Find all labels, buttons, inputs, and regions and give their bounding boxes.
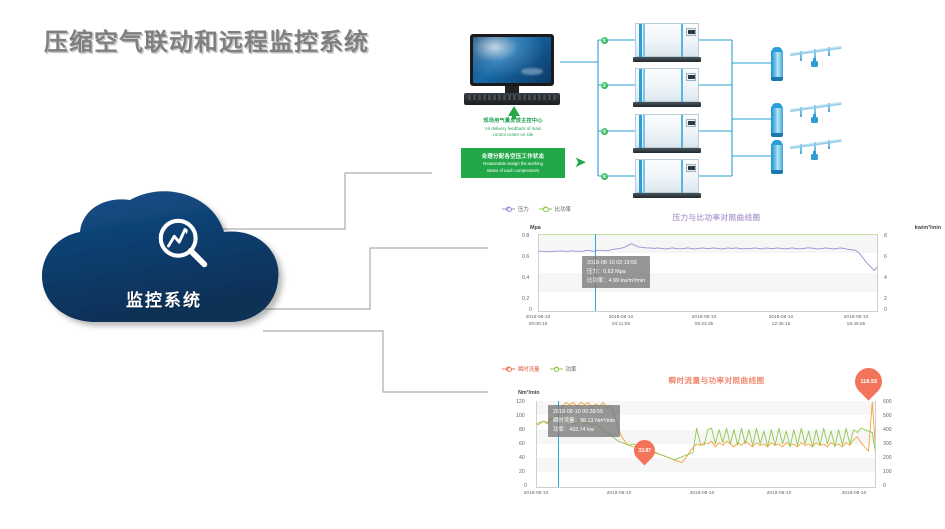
right-arrow-icon: ➤ bbox=[574, 156, 588, 169]
chart1-xtick-4-date: 2018-08-10 bbox=[826, 315, 886, 322]
chart2-ytick-5: 20 bbox=[519, 469, 525, 475]
chart1-xtick-3-time: 12:35:15 bbox=[751, 322, 811, 329]
chart2-xtick-4-date: 2018-08-10 bbox=[824, 491, 884, 498]
monitoring-cloud[interactable]: 监控系统 bbox=[38, 188, 290, 343]
chart1-ytick-1: 0.6 bbox=[522, 254, 529, 260]
chart1-xtick-0-time: 00:00:15 bbox=[508, 322, 568, 329]
chart1-title: 压力与比功率对照曲线图 bbox=[488, 212, 945, 223]
chart1-xtick-2-date: 2018-08-10 bbox=[674, 315, 734, 322]
chart2-xtick-1-date: 2018-08-10 bbox=[589, 491, 649, 498]
chart1-y2tick-0: 8 bbox=[884, 233, 887, 239]
chart1-y2tick-4: 0 bbox=[884, 307, 887, 313]
chart2-xtick-0-date: 2018-08-10 bbox=[506, 491, 566, 498]
air-tank-1 bbox=[771, 47, 783, 81]
chart2-y2tick-6: 0 bbox=[883, 483, 886, 489]
chart2-tooltip-flow: 瞬时流量：98.13 Nm³/min bbox=[553, 417, 615, 426]
keyboard bbox=[464, 93, 560, 105]
chart2-y-axis bbox=[536, 401, 537, 487]
system-diagram: 现场用气量反馈主控中心 Air delivery feedback of mai… bbox=[432, 16, 945, 202]
chart2-marker-high[interactable]: 118.55 bbox=[849, 362, 887, 400]
chart2-y2tick-3: 300 bbox=[883, 441, 892, 447]
air-tank-2 bbox=[771, 103, 783, 137]
chart2-xtick-2-date: 2018-08-10 bbox=[672, 491, 732, 498]
chart2-xtick-4: 2018-08-10 bbox=[824, 491, 884, 498]
assign-status-en-line1: Reasonable assign the working bbox=[483, 161, 543, 167]
legend-label-power: 功率 bbox=[566, 365, 577, 373]
chart1-xtick-2: 2018-08-10 08:23:35 bbox=[674, 315, 734, 329]
node-dot-4: 4 bbox=[601, 173, 608, 180]
node-dot-2: 2 bbox=[601, 82, 608, 89]
chart1-y2-unit: kw/m³/min bbox=[915, 225, 941, 231]
pipe-group-1 bbox=[788, 44, 844, 78]
chart1-ytick-4: 0 bbox=[529, 307, 532, 313]
chart2-y2tick-0: 600 bbox=[883, 399, 892, 405]
chart1-xtick-1-date: 2018-08-10 bbox=[591, 315, 651, 322]
chart2-xtick-2: 2018-08-10 bbox=[672, 491, 732, 498]
chart1-xtick-4: 2018-08-10 16:46:55 bbox=[826, 315, 886, 329]
legend-marker-power bbox=[550, 366, 563, 372]
cloud-label: 监控系统 bbox=[38, 286, 290, 311]
chart1-tooltip-pressure: 压力：0.63 Mpa bbox=[587, 268, 645, 277]
chart2-ytick-1: 100 bbox=[516, 413, 525, 419]
assign-status-en-line2: states of each compressors bbox=[483, 168, 543, 174]
chart2-ytick-3: 60 bbox=[519, 441, 525, 447]
legend-item-power[interactable]: 功率 bbox=[550, 365, 577, 373]
chart1-ytick-2: 0.4 bbox=[522, 275, 529, 281]
chart1-y-unit: Mpa bbox=[530, 225, 541, 231]
chart2-ytick-0: 120 bbox=[516, 399, 525, 405]
monitor-screen bbox=[470, 34, 554, 86]
chart2-xtick-1: 2018-08-10 bbox=[589, 491, 649, 498]
chart2-x-axis bbox=[536, 487, 876, 488]
chart2-xtick-3-date: 2018-08-10 bbox=[749, 491, 809, 498]
node-dot-3: 3 bbox=[601, 128, 608, 135]
chart1-xtick-1-time: 04:11:55 bbox=[591, 322, 651, 329]
chart1-xtick-3-date: 2018-08-10 bbox=[751, 315, 811, 322]
chart2-ytick-6: 0 bbox=[524, 483, 527, 489]
legend-label-flow: 瞬时流量 bbox=[518, 365, 540, 373]
chart2-legend[interactable]: 瞬时流量 功率 bbox=[502, 365, 576, 373]
chart2-xtick-3: 2018-08-10 bbox=[749, 491, 809, 498]
chart2-y-unit: Nm³/min bbox=[518, 390, 540, 396]
chart1-tooltip: 2018-08-10 02:19:55 压力：0.63 Mpa 比功率：4.99… bbox=[582, 256, 650, 288]
chart1-xtick-0-date: 2018-08-10 bbox=[508, 315, 568, 322]
chart2-y2-axis bbox=[875, 401, 876, 487]
chart1-y-axis bbox=[538, 234, 539, 311]
chart2-y2tick-2: 400 bbox=[883, 427, 892, 433]
chart1-y2tick-2: 4 bbox=[884, 275, 887, 281]
chart2-marker-low-label: 33.87 bbox=[638, 448, 651, 454]
chart-magnifier-icon bbox=[153, 214, 215, 276]
monitor-stand bbox=[505, 86, 519, 93]
chart1-tooltip-time: 2018-08-10 02:19:55 bbox=[587, 259, 645, 268]
chart1-y2tick-1: 6 bbox=[884, 254, 887, 260]
assign-status-box: 合理分配各空压工作状态 Reasonable assign the workin… bbox=[461, 148, 565, 178]
compressor-2 bbox=[635, 68, 699, 108]
chart1-x-axis bbox=[538, 311, 878, 312]
chart2-y2tick-1: 500 bbox=[883, 413, 892, 419]
chart1-xtick-1: 2018-08-10 04:11:55 bbox=[591, 315, 651, 329]
chart2-tooltip-power: 功率：493.74 kw bbox=[553, 426, 615, 435]
compressor-3 bbox=[635, 114, 699, 154]
chart2-y2tick-5: 100 bbox=[883, 469, 892, 475]
chart2-ytick-2: 80 bbox=[519, 427, 525, 433]
flow-power-chart: 瞬时流量 功率 瞬时流量与功率对照曲线图 Nm³/min 120 100 80 … bbox=[488, 362, 945, 529]
chart2-marker-high-label: 118.55 bbox=[860, 379, 877, 385]
chart2-tooltip: 2018-08-10 00:38:55 瞬时流量：98.13 Nm³/min 功… bbox=[548, 405, 620, 437]
chart1-tooltip-specific-power: 比功率：4.99 kw/m³/min bbox=[587, 277, 645, 286]
chart2-y2tick-4: 200 bbox=[883, 455, 892, 461]
chart1-xtick-0: 2018-08-10 00:00:15 bbox=[508, 315, 568, 329]
slide-canvas: 压缩空气联动和远程监控系统 监 bbox=[0, 0, 945, 529]
chart1-xtick-3: 2018-08-10 12:35:15 bbox=[751, 315, 811, 329]
assign-status-cn: 合理分配各空压工作状态 bbox=[482, 152, 545, 160]
air-tank-3 bbox=[771, 140, 783, 174]
pipe-group-2 bbox=[788, 100, 844, 134]
chart2-tooltip-time: 2018-08-10 00:38:55 bbox=[553, 408, 615, 417]
chart2-ytick-4: 40 bbox=[519, 455, 525, 461]
pipe-group-3 bbox=[788, 137, 844, 171]
feedback-label-cn: 现场用气量反馈主控中心 bbox=[458, 118, 568, 125]
feedback-label-en-line2: control center on site bbox=[458, 132, 568, 138]
chart1-xtick-2-time: 08:23:35 bbox=[674, 322, 734, 329]
pressure-chart: 压力 比功率 压力与比功率对照曲线图 Mpa kw/m³/min 0.8 0.6… bbox=[488, 200, 945, 335]
compressor-4 bbox=[635, 159, 699, 199]
chart1-y2-axis bbox=[877, 234, 878, 311]
legend-marker-flow bbox=[502, 366, 515, 372]
control-center-monitor bbox=[464, 34, 560, 112]
chart1-xtick-4-time: 16:46:55 bbox=[826, 322, 886, 329]
legend-item-flow[interactable]: 瞬时流量 bbox=[502, 365, 540, 373]
chart1-y2tick-3: 2 bbox=[884, 296, 887, 302]
node-dot-1: 1 bbox=[601, 37, 608, 44]
compressor-1 bbox=[635, 23, 699, 63]
chart1-ytick-3: 0.2 bbox=[522, 296, 529, 302]
assign-status-en: Reasonable assign the working states of … bbox=[483, 161, 543, 173]
chart1-ytick-0: 0.8 bbox=[522, 233, 529, 239]
feedback-label-en: Air delivery feedback of main control ce… bbox=[458, 126, 568, 139]
chart2-xtick-0: 2018-08-10 bbox=[506, 491, 566, 498]
